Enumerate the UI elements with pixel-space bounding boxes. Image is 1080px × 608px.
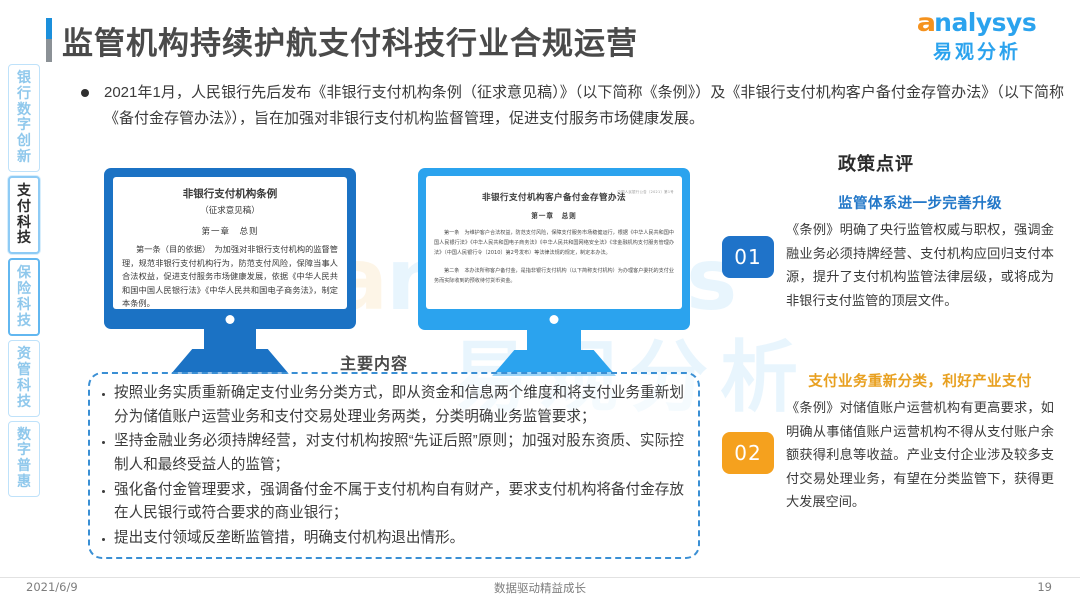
sidebar-char: 数 xyxy=(17,427,31,443)
monitor-bezel: 中国人民银行公告〔2021〕第1号 非银行支付机构客户备付金存管办法 第一章 总… xyxy=(418,168,690,330)
badge-02: 02 xyxy=(722,432,774,474)
sidebar-char: 普 xyxy=(17,458,31,474)
sidebar-char: 行 xyxy=(17,86,31,102)
sidebar-char: 银 xyxy=(17,70,31,86)
document-body: 第一条 为维护客户合法权益，防范支付风险，保障支付服务市场稳健运行，根据《中华人… xyxy=(434,228,674,259)
sidebar-item-payment-tech[interactable]: 支 付 科 技 xyxy=(8,176,40,254)
monitor-indicator-dot xyxy=(226,315,235,324)
list-item: 提出支付领域反垄断监管措，明确支付机构退出情形。 xyxy=(100,527,684,551)
policy-review-section-1: 监管体系进一步完善升级 《条例》明确了央行监管权威与职权，强调金融业务必须持牌经… xyxy=(786,192,1054,312)
monitor-screen: 中国人民银行公告〔2021〕第1号 非银行支付机构客户备付金存管办法 第一章 总… xyxy=(426,176,682,309)
list-item: 强化备付金管理要求，强调备付金不属于支付机构自有财产，要求支付机构将备付金存放在… xyxy=(100,479,684,526)
document-stamp: 中国人民银行公告〔2021〕第1号 xyxy=(617,189,674,194)
section-heading: 监管体系进一步完善升级 xyxy=(786,192,1054,213)
sidebar-char: 字 xyxy=(17,117,31,133)
sidebar-item-digital-inclusive-finance[interactable]: 数 字 普 惠 xyxy=(8,421,40,497)
sidebar-char: 创 xyxy=(17,133,31,149)
lead-paragraph: 2021年1月，人民银行先后发布《非银行支付机构条例（征求意见稿）》（以下简称《… xyxy=(78,80,1064,132)
analysys-logo: analysys 易观分析 xyxy=(902,10,1052,64)
sidebar-char: 字 xyxy=(17,442,31,458)
badge-01: 01 xyxy=(722,236,774,278)
sidebar-char: 管 xyxy=(17,362,31,378)
document-custody-rules: 中国人民银行公告〔2021〕第1号 非银行支付机构客户备付金存管办法 第一章 总… xyxy=(434,191,674,286)
footer: 2021/6/9 数据驱动精益成长 19 xyxy=(0,580,1080,602)
list-item: 坚持金融业务必须持牌经营，对支付机构按照“先证后照”原则；加强对股东资质、实际控… xyxy=(100,430,684,477)
sidebar-item-asset-management-tech[interactable]: 资 管 科 技 xyxy=(8,340,40,416)
sidebar-char: 技 xyxy=(17,230,31,246)
sidebar-char: 技 xyxy=(17,313,31,329)
document-body-2: 第二条 本办法所称客户备付金，是指非银行支付机构（以下简称支付机构）为办理客户委… xyxy=(434,266,674,286)
main-content-label: 主要内容 xyxy=(340,350,408,374)
monitor-regulation-draft: 非银行支付机构条例 （征求意见稿） 第一章 总则 第一条（目的依据） 为加强对非… xyxy=(104,168,356,329)
section-body: 《条例》明确了央行监管权威与职权，强调金融业务必须持牌经营、支付机构应回归支付本… xyxy=(786,218,1054,312)
sidebar-char: 新 xyxy=(17,149,31,165)
sidebar-char: 科 xyxy=(17,215,31,231)
sidebar-char: 科 xyxy=(17,378,31,394)
monitor-neck xyxy=(527,330,581,350)
footer-slogan: 数据驱动精益成长 xyxy=(0,580,1080,596)
sidebar-char: 惠 xyxy=(17,474,31,490)
main-content-list: 按照业务实质重新确定支付业务分类方式，即从资金和信息两个维度和将支付业务重新划分… xyxy=(100,382,684,550)
sidebar-char: 付 xyxy=(17,199,31,215)
section-body: 《条例》对储值账户运营机构有更高要求，如明确从事储值账户运营机构不得从支付账户余… xyxy=(786,396,1054,514)
sidebar: 银 行 数 字 创 新 支 付 科 技 保 险 科 技 资 管 科 技 数 字 … xyxy=(8,64,42,501)
monitor-screen: 非银行支付机构条例 （征求意见稿） 第一章 总则 第一条（目的依据） 为加强对非… xyxy=(113,177,347,309)
monitor-neck xyxy=(204,329,256,349)
sidebar-char: 技 xyxy=(17,394,31,410)
title-accent-bar xyxy=(46,18,52,62)
document-title: 非银行支付机构条例 xyxy=(122,186,338,201)
document-chapter: 第一章 总则 xyxy=(122,225,338,237)
page-title: 监管机构持续护航支付科技行业合规运营 xyxy=(62,18,638,63)
list-item: 按照业务实质重新确定支付业务分类方式，即从资金和信息两个维度和将支付业务重新划分… xyxy=(100,382,684,429)
sidebar-char: 资 xyxy=(17,346,31,362)
sidebar-char: 险 xyxy=(17,281,31,297)
sidebar-item-insurance-tech[interactable]: 保 险 科 技 xyxy=(8,258,40,336)
monitor-base xyxy=(171,349,289,374)
sidebar-item-bank-digital-innovation[interactable]: 银 行 数 字 创 新 xyxy=(8,64,40,172)
policy-review-title: 政策点评 xyxy=(838,150,914,176)
document-chapter: 第一章 总则 xyxy=(434,210,674,220)
monitor-bezel: 非银行支付机构条例 （征求意见稿） 第一章 总则 第一条（目的依据） 为加强对非… xyxy=(104,168,356,329)
logo-swirl-icon: a xyxy=(917,10,936,36)
monitor-indicator-dot xyxy=(550,315,559,324)
sidebar-char: 数 xyxy=(17,102,31,118)
logo-wordmark: analysys xyxy=(902,10,1052,36)
footer-page-number: 19 xyxy=(1037,580,1052,594)
document-body: 第一条（目的依据） 为加强对非银行支付机构的监督管理，规范非银行支付机构行为，防… xyxy=(122,243,338,309)
sidebar-char: 保 xyxy=(17,265,31,281)
footer-divider xyxy=(0,577,1080,578)
logo-cn-label: 易观分析 xyxy=(902,37,1052,64)
main-content-box: 按照业务实质重新确定支付业务分类方式，即从资金和信息两个维度和将支付业务重新划分… xyxy=(88,372,700,559)
logo-wordmark-rest: nalysys xyxy=(934,8,1036,37)
policy-review-section-2: 支付业务重新分类，利好产业支付 《条例》对储值账户运营机构有更高要求，如明确从事… xyxy=(786,370,1054,514)
monitor-custody-rules: 中国人民银行公告〔2021〕第1号 非银行支付机构客户备付金存管办法 第一章 总… xyxy=(418,168,690,330)
sidebar-char: 支 xyxy=(17,183,31,199)
document-subtitle: （征求意见稿） xyxy=(122,204,338,216)
document-regulation-draft: 非银行支付机构条例 （征求意见稿） 第一章 总则 第一条（目的依据） 为加强对非… xyxy=(122,186,338,309)
sidebar-char: 科 xyxy=(17,297,31,313)
section-heading: 支付业务重新分类，利好产业支付 xyxy=(786,370,1054,391)
